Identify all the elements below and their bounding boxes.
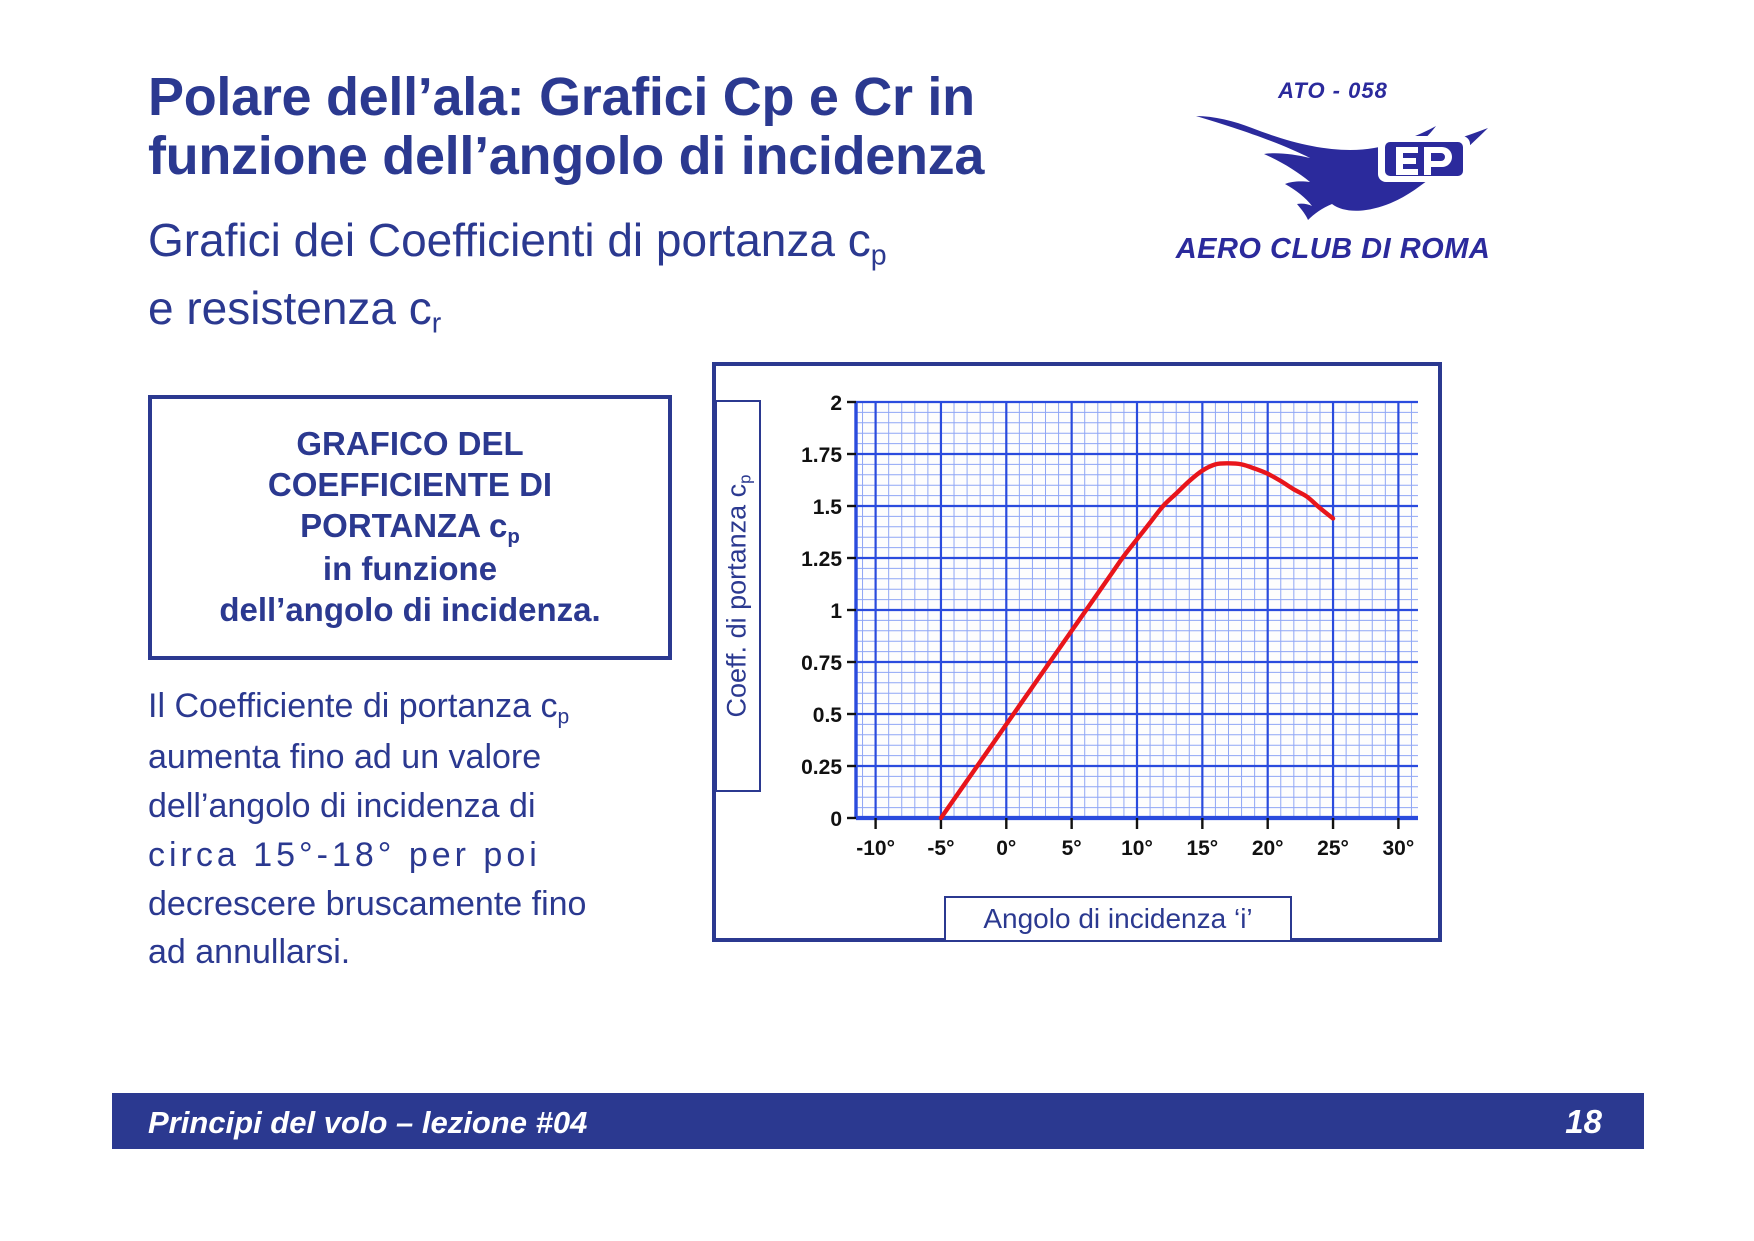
title-line-2: funzione dell’angolo di incidenza xyxy=(148,127,1158,186)
footer-page-number: 18 xyxy=(1565,1103,1602,1141)
cp-chart: 00.250.50.7511.251.51.752-10°-5°0°5°10°1… xyxy=(778,388,1430,888)
paragraph-line-4: circa 15°-18° per poi xyxy=(148,831,696,880)
x-axis-label: Angolo di incidenza ‘i’ xyxy=(983,903,1252,935)
x-tick-label: 0° xyxy=(996,837,1016,860)
paragraph-line-1: Il Coefficiente di portanza cp xyxy=(148,682,696,733)
x-tick-label: 10° xyxy=(1121,837,1153,860)
y-axis-label-box: Coeff. di portanza cp xyxy=(715,400,761,792)
callout-line-3: PORTANZA cp xyxy=(219,506,600,549)
callout-line-3-subscript: p xyxy=(507,525,519,548)
footer-lesson-label: Principi del volo – lezione #04 xyxy=(148,1105,587,1141)
y-tick-label: 1 xyxy=(830,600,842,623)
subtitle-line-2-text: e resistenza c xyxy=(148,282,432,334)
callout-box: GRAFICO DEL COEFFICIENTE DI PORTANZA cp … xyxy=(148,395,672,660)
slide-footer: Principi del volo – lezione #04 18 xyxy=(112,1093,1644,1149)
title-line-1: Polare dell’ala: Grafici Cp e Cr in xyxy=(148,68,1158,127)
subtitle-line-1-subscript: p xyxy=(871,240,887,272)
paragraph-line-1-text: Il Coefficiente di portanza c xyxy=(148,687,558,725)
x-tick-label: 20° xyxy=(1252,837,1284,860)
subtitle-line-1-text: Grafici dei Coefficienti di portanza c xyxy=(148,214,871,266)
callout-line-5: dell’angolo di incidenza. xyxy=(219,590,600,631)
callout-line-1: GRAFICO DEL xyxy=(219,424,600,465)
y-tick-label: 2 xyxy=(830,392,842,415)
y-tick-label: 0 xyxy=(830,808,842,831)
y-tick-label: 0.75 xyxy=(801,652,842,675)
x-tick-label: 25° xyxy=(1317,837,1349,860)
x-axis-label-box: Angolo di incidenza ‘i’ xyxy=(944,896,1292,942)
paragraph-line-5: decrescere bruscamente fino xyxy=(148,880,696,929)
x-tick-label: -5° xyxy=(927,837,954,860)
y-tick-label: 0.5 xyxy=(813,704,843,727)
body-paragraph: Il Coefficiente di portanza cp aumenta f… xyxy=(148,682,696,977)
chart-panel: Coeff. di portanza cp 00.250.50.7511.251… xyxy=(712,362,1442,942)
y-axis-label: Coeff. di portanza cp xyxy=(721,475,755,718)
cp-chart-svg: 00.250.50.7511.251.51.752-10°-5°0°5°10°1… xyxy=(778,388,1430,888)
subtitle-line-2-subscript: r xyxy=(432,308,442,340)
paragraph-line-2: aumenta fino ad un valore xyxy=(148,733,696,782)
y-axis-label-text: Coeff. di portanza c xyxy=(721,484,751,718)
aero-club-logo: ATO - 058 AERO CLUB DI ROMA xyxy=(1168,66,1498,266)
y-tick-label: 1.75 xyxy=(801,444,842,467)
paragraph-line-3: dell’angolo di incidenza di xyxy=(148,782,696,831)
paragraph-line-6: ad annullarsi. xyxy=(148,928,696,977)
y-tick-label: 1.5 xyxy=(813,496,843,519)
page-title: Polare dell’ala: Grafici Cp e Cr in funz… xyxy=(148,68,1158,187)
paragraph-line-1-subscript: p xyxy=(558,705,570,728)
x-tick-label: 15° xyxy=(1186,837,1218,860)
y-tick-label: 1.25 xyxy=(801,548,842,571)
x-tick-label: 5° xyxy=(1062,837,1082,860)
callout-line-3-text: PORTANZA c xyxy=(300,507,507,544)
y-tick-label: 0.25 xyxy=(801,756,842,779)
subtitle-line-1: Grafici dei Coefficienti di portanza cp xyxy=(148,208,1148,276)
callout-line-2: COEFFICIENTE DI xyxy=(219,465,600,506)
page-subtitle: Grafici dei Coefficienti di portanza cp … xyxy=(148,208,1148,344)
x-tick-label: 30° xyxy=(1383,837,1415,860)
callout-text: GRAFICO DEL COEFFICIENTE DI PORTANZA cp … xyxy=(211,424,608,631)
subtitle-line-2: e resistenza cr xyxy=(148,276,1148,344)
slide-root: Polare dell’ala: Grafici Cp e Cr in funz… xyxy=(0,0,1754,1241)
logo-monogram xyxy=(1378,136,1470,182)
logo-club-name: AERO CLUB DI ROMA xyxy=(1168,233,1498,266)
eagle-icon xyxy=(1190,102,1490,220)
y-axis-label-subscript: p xyxy=(735,475,754,484)
x-tick-label: -10° xyxy=(856,837,895,860)
callout-line-4: in funzione xyxy=(219,549,600,590)
logo-ato-code: ATO - 058 xyxy=(1168,78,1498,104)
